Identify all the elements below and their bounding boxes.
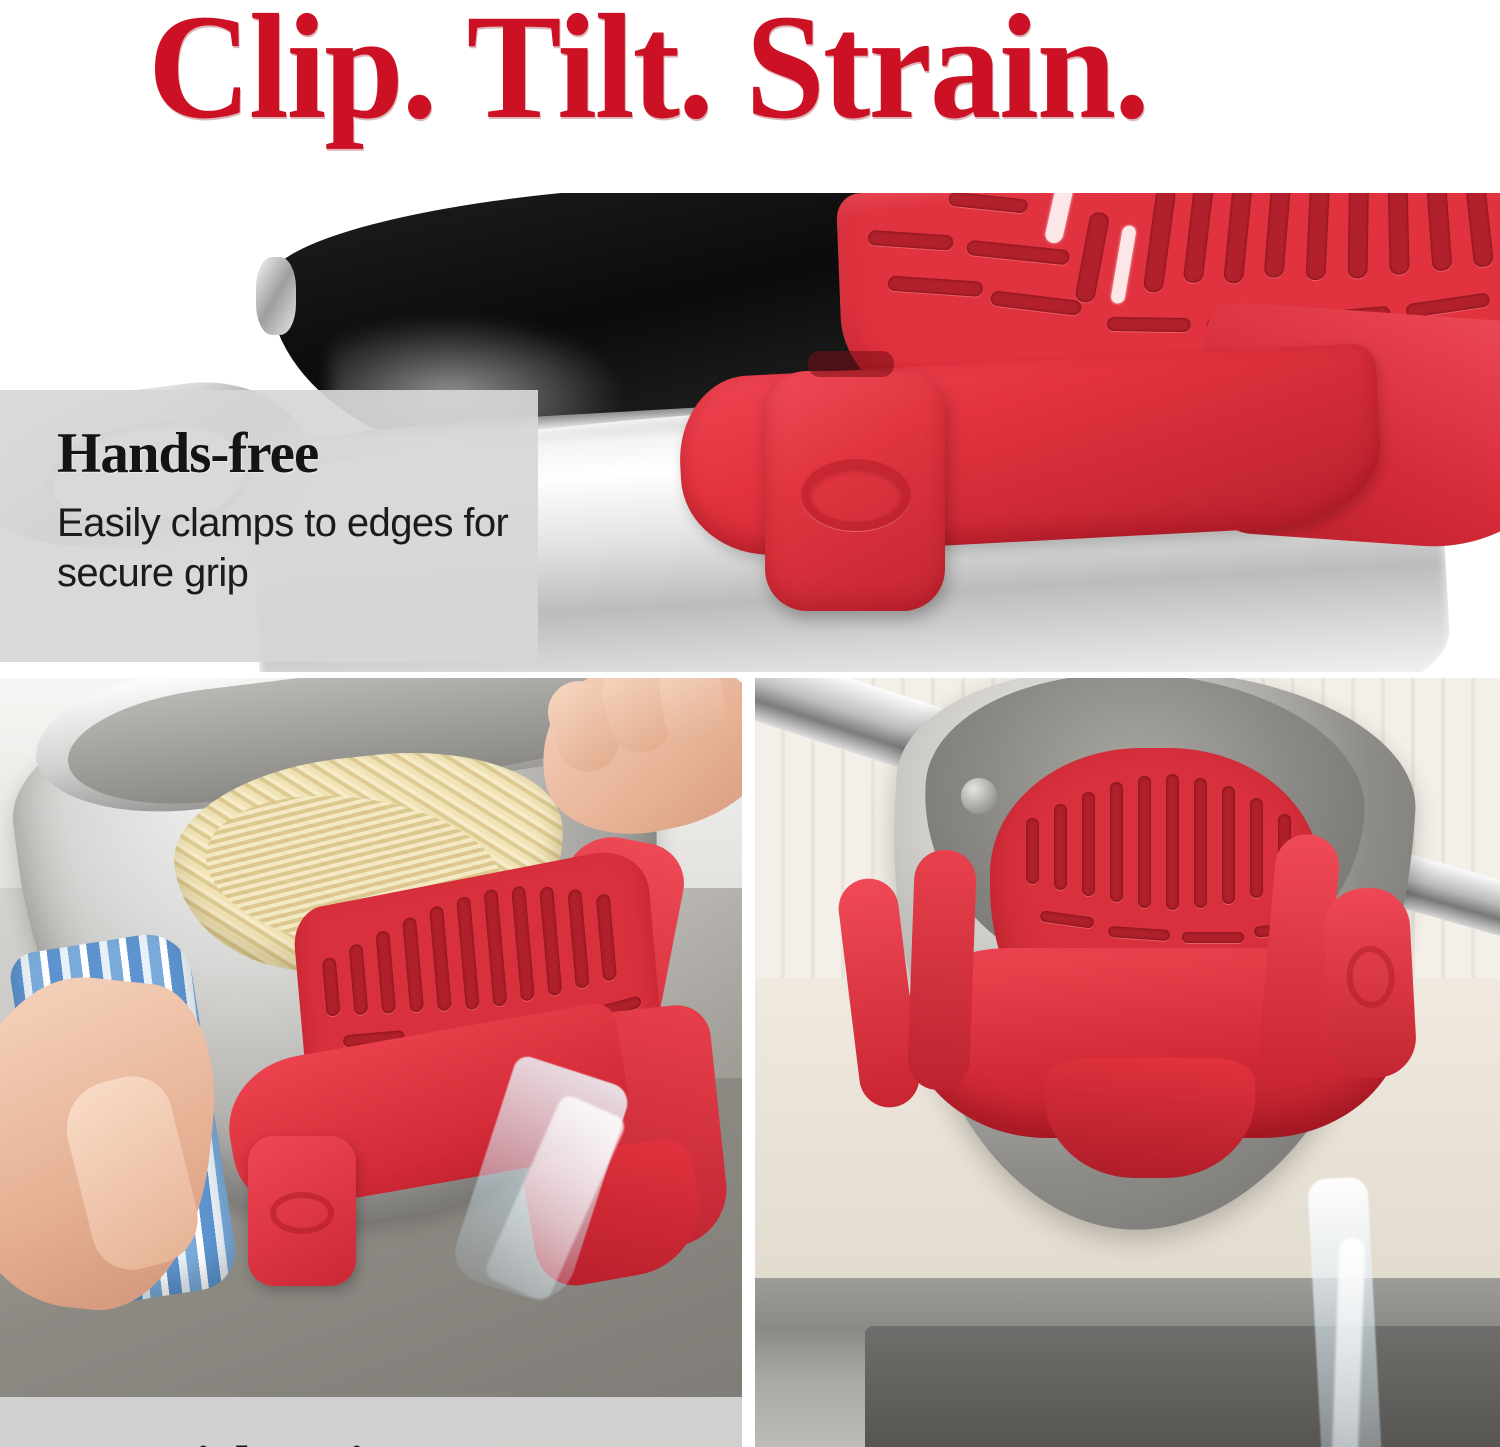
- panel-pot-sink-draining: Efficient Built-in spout maximizes water…: [755, 678, 1500, 1447]
- feature-panel-grid: Hands-free Easily clamps to edges for se…: [0, 193, 1500, 1447]
- br-strainer-spout: [1045, 1058, 1255, 1178]
- silicone-strainer-top: [640, 193, 1500, 653]
- clip-notch: [808, 351, 894, 377]
- headline-bar: Clip. Tilt. Strain.: [0, 0, 1500, 193]
- br-clip-oval-detail: [1345, 945, 1396, 1009]
- br-strainer-clip-right: [1322, 886, 1418, 1080]
- caption-title: Hands-free: [57, 424, 518, 484]
- panel-pot-spaghetti-draining: Nonstick Grip Prevents food from falling…: [0, 678, 742, 1447]
- page-headline: Clip. Tilt. Strain.: [148, 0, 1148, 142]
- silicone-strainer-bl: [200, 848, 740, 1378]
- caption-nonstick-grip: Nonstick Grip Prevents food from falling…: [0, 1397, 742, 1447]
- caption-title: Nonstick Grip: [55, 1437, 722, 1447]
- pot-handle-rivet: [256, 257, 296, 335]
- panel-pot-clamp-closeup: Hands-free Easily clamps to edges for se…: [0, 193, 1500, 672]
- br-sink-basin: [865, 1326, 1500, 1447]
- bl-clip-oval-detail: [270, 1192, 334, 1234]
- caption-body: Easily clamps to edges for secure grip: [57, 498, 518, 598]
- bl-strainer-clip: [248, 1136, 356, 1286]
- caption-hands-free: Hands-free Easily clamps to edges for se…: [0, 390, 538, 662]
- strainer-clip: [765, 371, 945, 611]
- br-strainer-arm-left-inner: [907, 849, 977, 1091]
- clip-oval-detail: [801, 459, 911, 531]
